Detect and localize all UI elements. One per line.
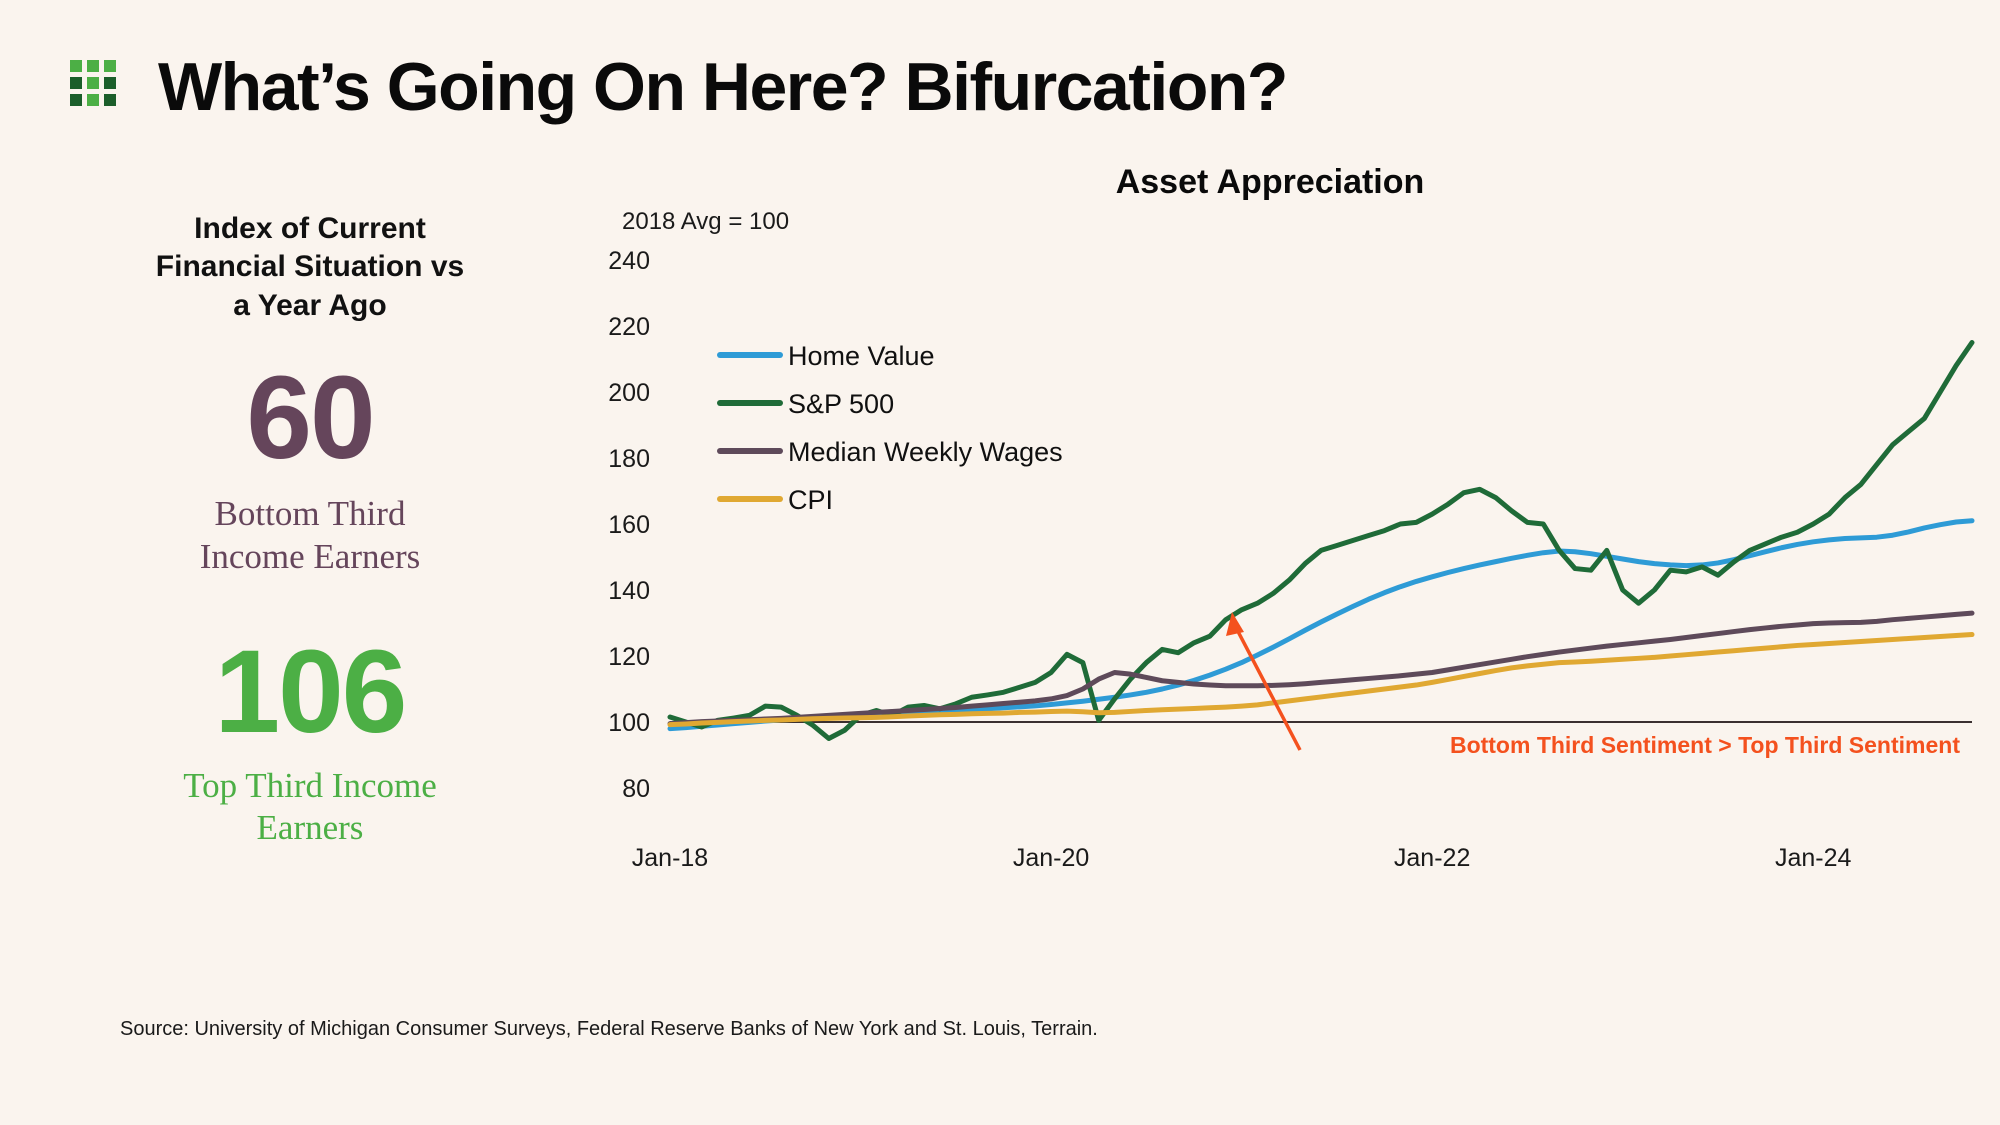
chart-legend: Home ValueS&P 500Median Weekly WagesCPI: [720, 341, 1063, 515]
logo-cell: [104, 94, 116, 106]
source-note: Source: University of Michigan Consumer …: [120, 1018, 1098, 1041]
x-axis-tick-label: Jan-24: [1775, 844, 1852, 872]
y-axis-tick-label: 200: [608, 379, 650, 407]
series-line-median-weekly-wages: [670, 613, 1972, 724]
kpi-panel: Index of Current Financial Situation vs …: [100, 210, 520, 850]
y-axis-tick-label: 140: [608, 577, 650, 605]
x-axis-tick-label: Jan-20: [1013, 844, 1089, 872]
legend-label-cpi: CPI: [788, 485, 833, 515]
grid-dots-logo-icon: [70, 60, 116, 106]
y-axis-tick-label: 100: [608, 709, 650, 737]
x-axis-ticks: Jan-18Jan-20Jan-22Jan-24: [632, 844, 1852, 872]
chart-panel: Asset Appreciation 2018 Avg = 100 801001…: [560, 150, 1980, 1040]
y-axis-ticks: 80100120140160180200220240: [608, 247, 650, 803]
x-axis-tick-label: Jan-22: [1394, 844, 1470, 872]
page-header: What’s Going On Here? Bifurcation?: [0, 0, 2000, 150]
y-axis-tick-label: 80: [622, 775, 650, 803]
logo-cell: [87, 77, 99, 89]
legend-label-s-p-500: S&P 500: [788, 389, 894, 419]
logo-cell: [70, 77, 82, 89]
logo-cell: [104, 77, 116, 89]
kpi-bottom-label: Bottom Third Income Earners: [100, 493, 520, 578]
asset-appreciation-line-chart: 80100120140160180200220240 Jan-18Jan-20J…: [560, 150, 1980, 1040]
logo-cell: [104, 60, 116, 72]
kpi-bottom-value: 60: [100, 359, 520, 477]
y-axis-tick-label: 220: [608, 313, 650, 341]
legend-label-home-value: Home Value: [788, 341, 935, 371]
y-axis-tick-label: 120: [608, 643, 650, 671]
legend-label-median-weekly-wages: Median Weekly Wages: [788, 437, 1063, 467]
annotation-text: Bottom Third Sentiment > Top Third Senti…: [1450, 732, 1960, 758]
page-title: What’s Going On Here? Bifurcation?: [158, 48, 1287, 126]
logo-cell: [87, 94, 99, 106]
kpi-top-label: Top Third Income Earners: [100, 765, 520, 850]
kpi-top-third: 106 Top Third Income Earners: [100, 633, 520, 850]
logo-cell: [70, 94, 82, 106]
logo-cell: [70, 60, 82, 72]
kpi-bottom-third: 60 Bottom Third Income Earners: [100, 359, 520, 578]
annotation-callout: Bottom Third Sentiment > Top Third Senti…: [1226, 612, 1960, 758]
y-axis-tick-label: 180: [608, 445, 650, 473]
kpi-top-value: 106: [100, 633, 520, 751]
x-axis-tick-label: Jan-18: [632, 844, 708, 872]
y-axis-tick-label: 160: [608, 511, 650, 539]
y-axis-tick-label: 240: [608, 247, 650, 275]
logo-cell: [87, 60, 99, 72]
kpi-panel-heading: Index of Current Financial Situation vs …: [100, 210, 520, 325]
